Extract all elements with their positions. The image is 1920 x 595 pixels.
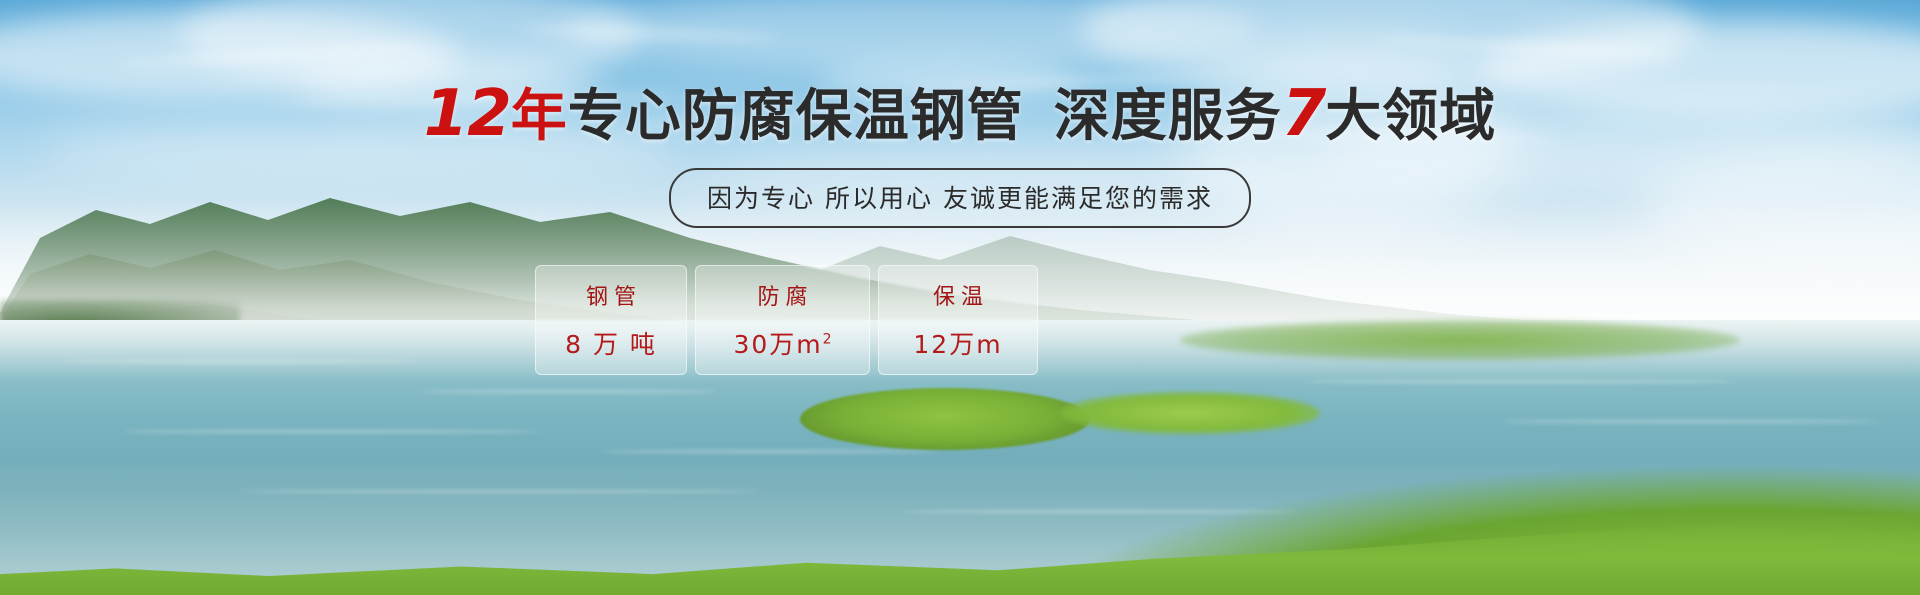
stat-value-text: 30万m [733, 330, 822, 359]
headline-main-text: 专心防腐保温钢管 [568, 84, 1024, 149]
headline-years-number: 12 [424, 77, 511, 151]
stat-card-label: 保温 [927, 279, 989, 311]
stat-card-steel-pipe: 钢管 8 万 吨 [535, 265, 687, 375]
headline-service-text: 深度服务 [1054, 84, 1282, 149]
stat-card-anticorrosion: 防腐 30万m2 [695, 265, 870, 375]
headline: 12年专心防腐保温钢管深度服务7大领域 [0, 82, 1920, 149]
stat-cards: 钢管 8 万 吨 防腐 30万m2 保温 12万m [535, 265, 1038, 375]
stat-value-superscript: 2 [823, 332, 832, 348]
stat-card-value: 12万m [913, 325, 1002, 361]
stat-value-text: 12万m [913, 330, 1002, 359]
subtitle-container: 因为专心 所以用心 友诚更能满足您的需求 [0, 168, 1920, 228]
stat-card-value: 8 万 吨 [565, 325, 657, 361]
stat-card-label: 钢管 [580, 279, 642, 311]
stat-value-text: 8 万 吨 [565, 330, 657, 359]
subtitle-pill: 因为专心 所以用心 友诚更能满足您的需求 [669, 168, 1251, 228]
stat-card-label: 防腐 [751, 279, 813, 311]
banner-content: 12年专心防腐保温钢管深度服务7大领域 因为专心 所以用心 友诚更能满足您的需求… [0, 0, 1920, 595]
stat-card-insulation: 保温 12万m [878, 265, 1038, 375]
promo-banner: 12年专心防腐保温钢管深度服务7大领域 因为专心 所以用心 友诚更能满足您的需求… [0, 0, 1920, 595]
headline-fields-text: 大领域 [1325, 84, 1496, 149]
stat-card-value: 30万m2 [733, 325, 831, 361]
headline-fields-number: 7 [1282, 77, 1326, 151]
headline-years-unit: 年 [511, 84, 568, 149]
